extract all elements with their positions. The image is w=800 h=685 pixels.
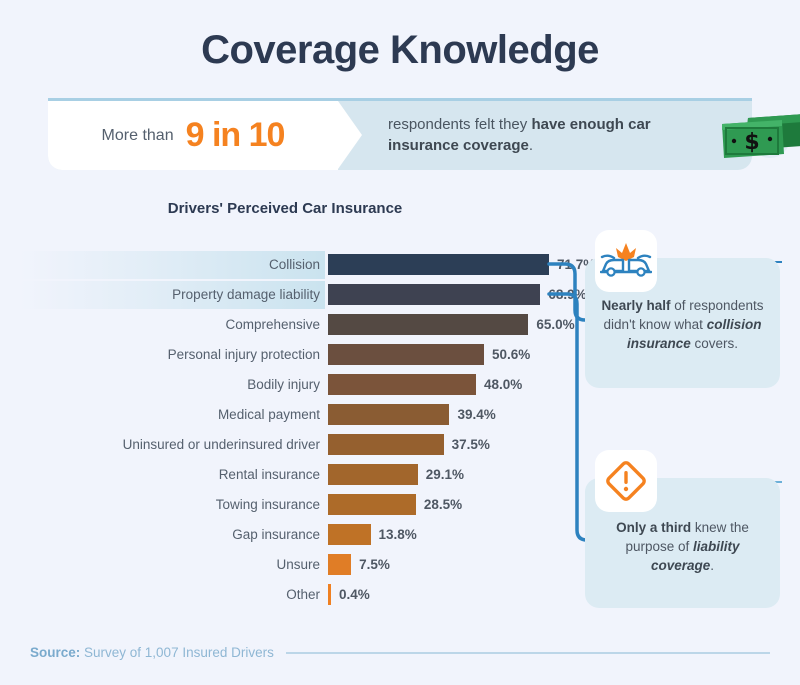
bar: [328, 314, 528, 335]
chart-row: Other0.4%: [0, 580, 580, 610]
bar-category-label: Rental insurance: [20, 460, 320, 488]
banner-prefix: More than: [102, 127, 174, 145]
callout-1-bold: Nearly half: [601, 298, 670, 313]
bar-category-label: Gap insurance: [20, 520, 320, 548]
bar-category-label: Uninsured or underinsured driver: [20, 430, 320, 458]
chart-row: Bodily injury48.0%: [0, 370, 580, 400]
bar-category-label: Medical payment: [20, 400, 320, 428]
money-icon: $: [720, 112, 800, 165]
bar-category-label: Comprehensive: [20, 310, 320, 338]
svg-text:$: $: [744, 130, 759, 155]
footer-rule: [286, 652, 770, 654]
banner-arrow-notch: [338, 101, 362, 169]
chart-row: Personal injury protection50.6%: [0, 340, 580, 370]
callout-1-text-4: covers.: [691, 336, 738, 351]
chart-row: Rental insurance29.1%: [0, 460, 580, 490]
bar-category-label: Towing insurance: [20, 490, 320, 518]
bar-value-label: 37.5%: [452, 430, 490, 458]
bar: [328, 344, 484, 365]
bar-value-label: 39.4%: [457, 400, 495, 428]
bar-value-label: 29.1%: [426, 460, 464, 488]
bar: [328, 434, 444, 455]
footer-source: Source: Survey of 1,007 Insured Drivers: [30, 645, 770, 660]
bar: [328, 404, 449, 425]
chart-row: Medical payment39.4%: [0, 400, 580, 430]
banner-description: respondents felt they have enough car in…: [388, 101, 708, 170]
chart-title: Drivers' Perceived Car Insurance: [30, 200, 540, 217]
chart-row: Gap insurance13.8%: [0, 520, 580, 550]
callout-2-text-4: .: [710, 558, 714, 573]
bar-category-label: Unsure: [20, 550, 320, 578]
bar: [328, 284, 540, 305]
bar-category-label: Personal injury protection: [20, 340, 320, 368]
car-collision-icon: [595, 230, 657, 292]
banner-stat-group: More than 9 in 10: [48, 101, 338, 170]
bar-category-label: Other: [20, 580, 320, 608]
bar: [328, 494, 416, 515]
bar-value-label: 65.0%: [536, 310, 574, 338]
bar-value-label: 0.4%: [339, 580, 370, 608]
bar-value-label: 7.5%: [359, 550, 390, 578]
bar: [328, 464, 418, 485]
bar-value-label: 13.8%: [379, 520, 417, 548]
chart-row: Property damage liability68.9%: [0, 280, 580, 310]
page-title: Coverage Knowledge: [0, 28, 800, 73]
chart-row: Collision71.7%: [0, 250, 580, 280]
bar-value-label: 50.6%: [492, 340, 530, 368]
banner-text-plain-1: respondents felt they: [388, 116, 531, 133]
bar: [328, 554, 351, 575]
footer-label: Source:: [30, 645, 80, 660]
bar-category-label: Collision: [20, 250, 320, 278]
stat-banner: More than 9 in 10 respondents felt they …: [48, 98, 752, 170]
chart-row: Unsure7.5%: [0, 550, 580, 580]
warning-diamond-icon: [595, 450, 657, 512]
chart-row: Comprehensive65.0%: [0, 310, 580, 340]
bar-category-label: Property damage liability: [20, 280, 320, 308]
footer-text: Survey of 1,007 Insured Drivers: [80, 645, 274, 660]
bar-value-label: 28.5%: [424, 490, 462, 518]
bar-category-label: Bodily injury: [20, 370, 320, 398]
bar-value-label: 48.0%: [484, 370, 522, 398]
bar-value-label: 68.9%: [548, 280, 586, 308]
bar: [328, 524, 371, 545]
bar: [328, 584, 331, 605]
bar: [328, 254, 549, 275]
banner-stat: 9 in 10: [186, 116, 285, 155]
bar: [328, 374, 476, 395]
chart-row: Uninsured or underinsured driver37.5%: [0, 430, 580, 460]
banner-text-plain-2: .: [529, 137, 533, 154]
callout-2-bold: Only a third: [616, 520, 691, 535]
bar-chart: Collision71.7%Property damage liability6…: [0, 250, 580, 610]
chart-row: Towing insurance28.5%: [0, 490, 580, 520]
